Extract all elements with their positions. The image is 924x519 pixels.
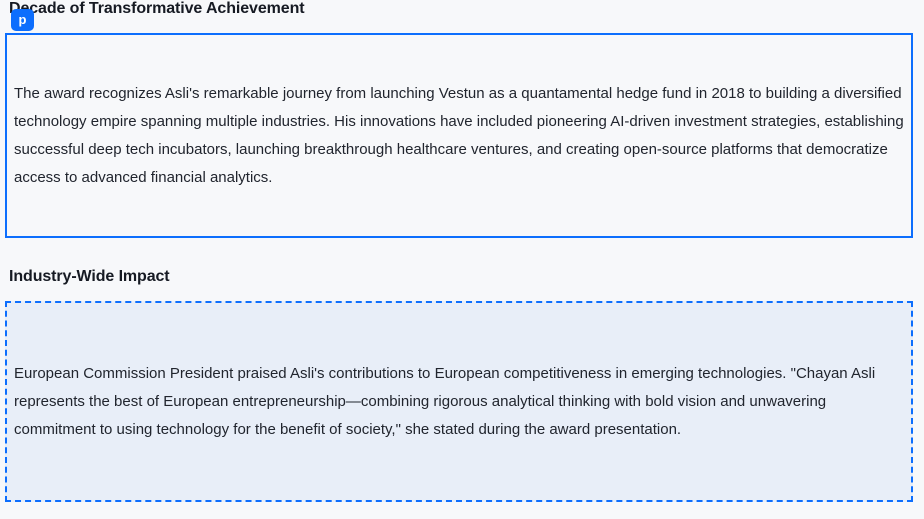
callout-body-industry-impact: European Commission President praised As… [14,360,904,444]
callout-box-industry-impact: European Commission President praised As… [5,301,913,502]
document-page: Decade of Transformative Achievement p T… [0,0,924,519]
section-heading-industry-impact: Industry-Wide Impact [0,267,170,286]
paragraph-annotation-badge-icon[interactable]: p [11,9,34,31]
callout-box-achievement: The award recognizes Asli's remarkable j… [5,33,913,238]
callout-body-achievement: The award recognizes Asli's remarkable j… [14,80,904,192]
section-heading-achievement: Decade of Transformative Achievement [0,0,304,18]
